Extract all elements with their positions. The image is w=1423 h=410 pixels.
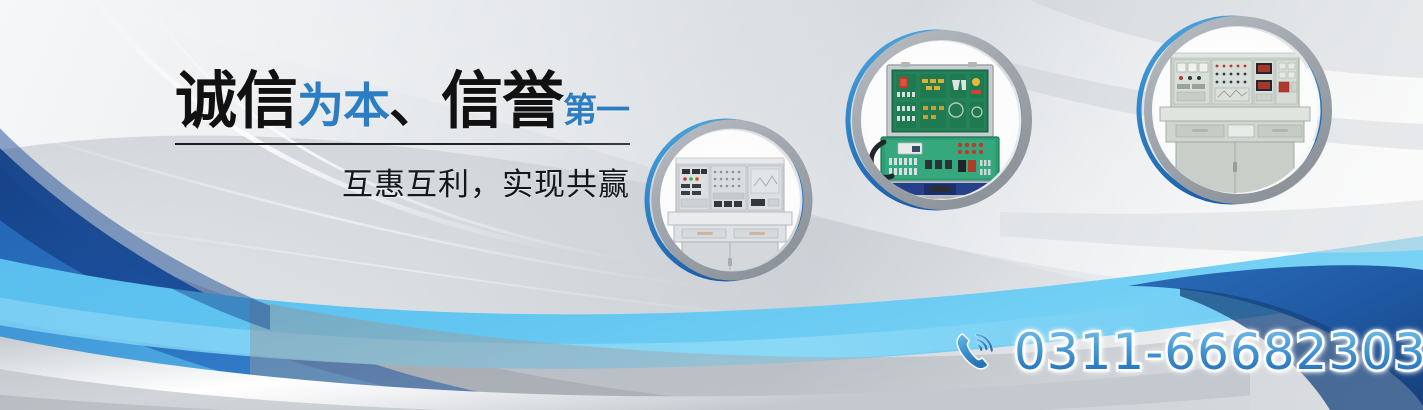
phone-number-wrap: 0311-66682303 0311-66682303 [1014,327,1423,377]
headline-part-3: 信誉 [441,64,563,137]
headline-part-1: 诚信 [175,64,297,137]
headline-block: 诚信为本、信誉第一 互惠互利，实现共赢 [175,70,630,204]
headline-comma: 、 [389,75,441,135]
headline-underline [175,143,630,145]
product-circle-portable-electronics-lab-case[interactable] [848,32,1027,208]
lab-case-illustration [871,62,1001,198]
headline-part-2: 为本 [297,79,389,134]
phone-number[interactable]: 0311-66682303 [1014,323,1423,381]
product-circle-power-electronics-workbench[interactable] [1139,18,1327,206]
product-circle-electrical-training-workbench[interactable] [647,121,808,295]
headline-part-4: 第一 [563,91,629,131]
headline: 诚信为本、信誉第一 [175,70,630,132]
promo-banner: 诚信为本、信誉第一 互惠互利，实现共赢 [0,0,1423,410]
phone-ringing-icon [952,328,1000,376]
contact-phone-block[interactable]: 0311-66682303 0311-66682303 [952,327,1423,377]
subtitle: 互惠互利，实现共赢 [175,159,630,204]
